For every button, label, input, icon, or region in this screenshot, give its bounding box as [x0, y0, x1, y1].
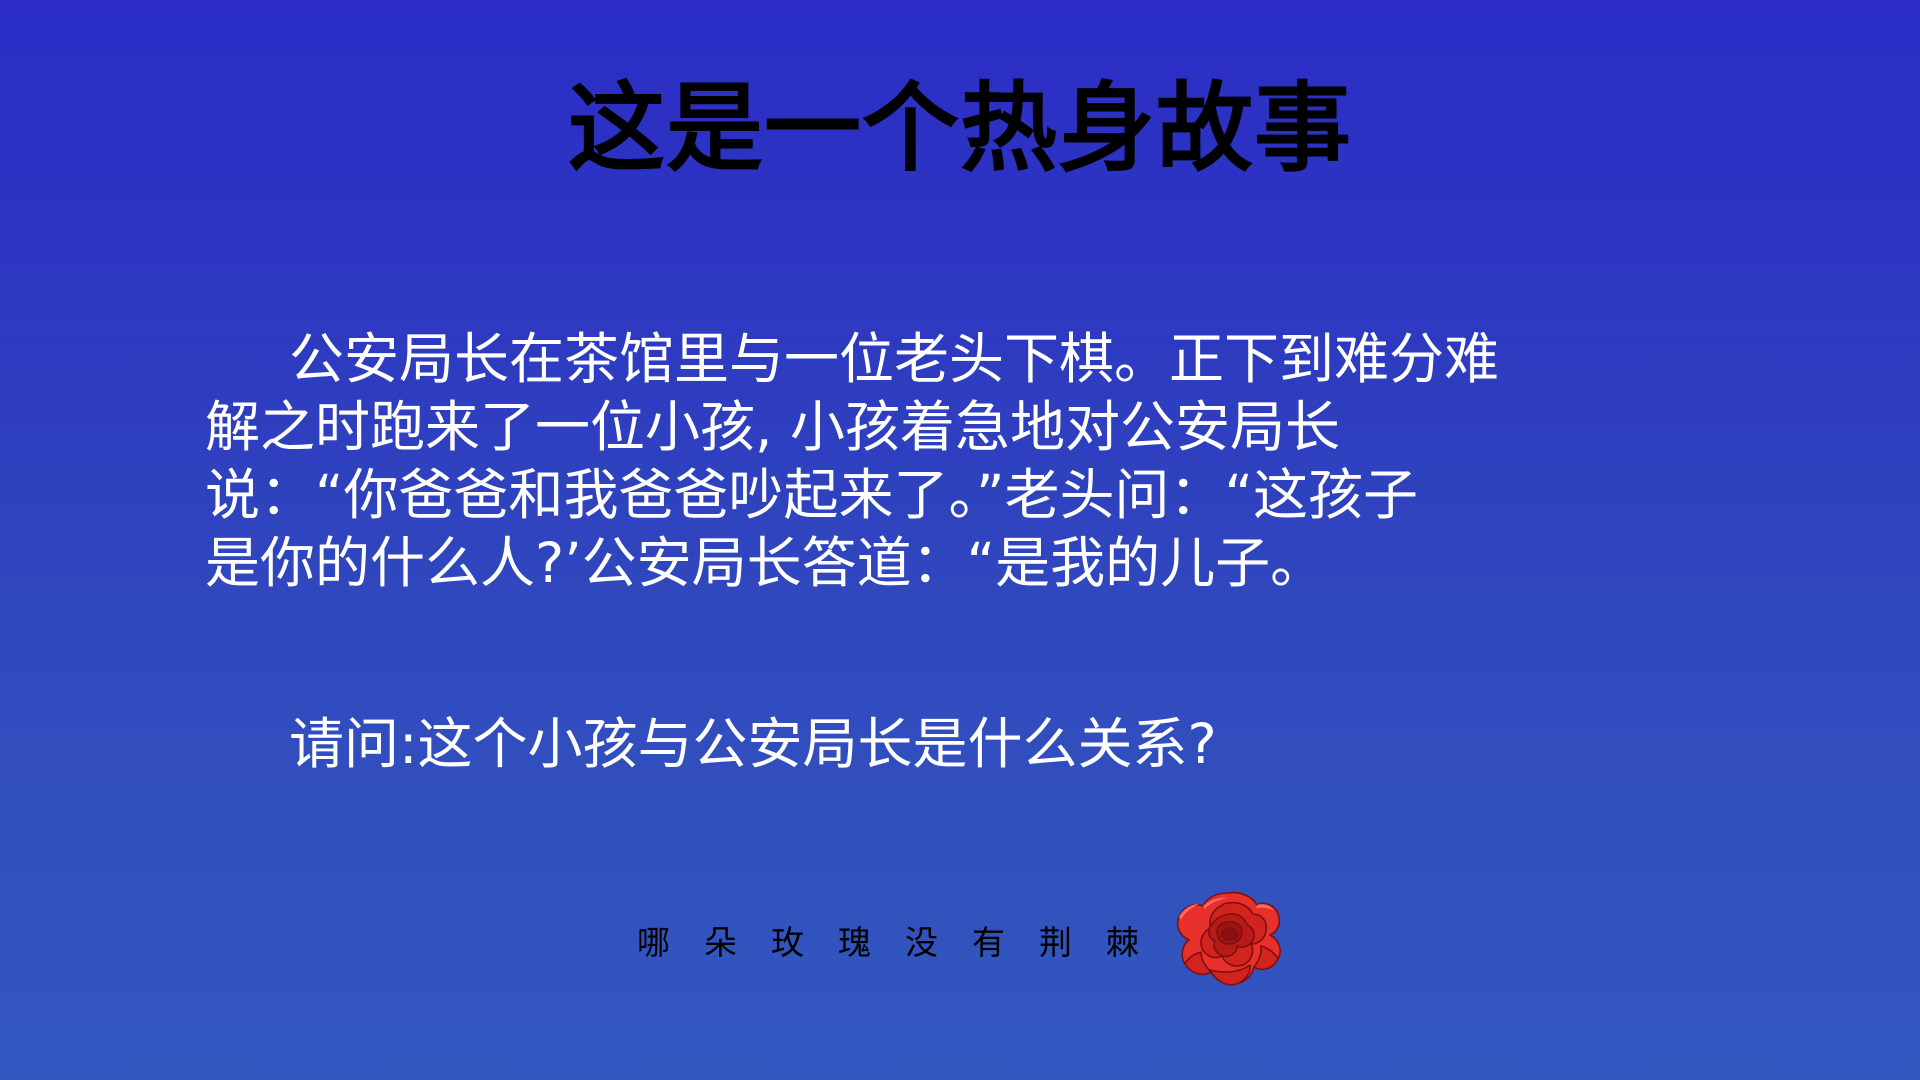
story-line: 公安局长在茶馆里与一位老头下棋。正下到难分难 [205, 325, 1750, 393]
story-line: 说：“你爸爸和我爸爸吵起来了。”老头问：“这孩子 [205, 461, 1750, 529]
story-line-text: 说：“你爸爸和我爸爸吵起来了。”老头问：“这孩子 [205, 463, 1418, 527]
story-line-text: 解之时跑来了一位小孩, 小孩着急地对公安局长 [205, 395, 1340, 459]
rose-icon [1167, 887, 1289, 991]
question-text: 请问:这个小孩与公安局长是什么关系? [205, 710, 1750, 778]
story-line: 解之时跑来了一位小孩, 小孩着急地对公安局长 [205, 393, 1750, 461]
story-line-text: 是你的什么人?’公安局长答道：“是我的儿子。 [205, 531, 1325, 595]
slide-title: 这是一个热身故事 [0, 78, 1920, 180]
presentation-slide: 这是一个热身故事 公安局长在茶馆里与一位老头下棋。正下到难分难 解之时跑来了一位… [0, 0, 1920, 1080]
story-line: 是你的什么人?’公安局长答道：“是我的儿子。 [205, 529, 1750, 597]
story-body: 公安局长在茶馆里与一位老头下棋。正下到难分难 解之时跑来了一位小孩, 小孩着急地… [205, 325, 1750, 597]
footer-bar: 哪朵玫瑰没有荆棘 [0, 893, 1920, 991]
question-label: 请问:这个小孩与公安局长是什么关系? [289, 712, 1217, 776]
story-line-text: 公安局长在茶馆里与一位老头下棋。正下到难分难 [289, 327, 1499, 391]
footer-caption: 哪朵玫瑰没有荆棘 [631, 926, 1173, 959]
